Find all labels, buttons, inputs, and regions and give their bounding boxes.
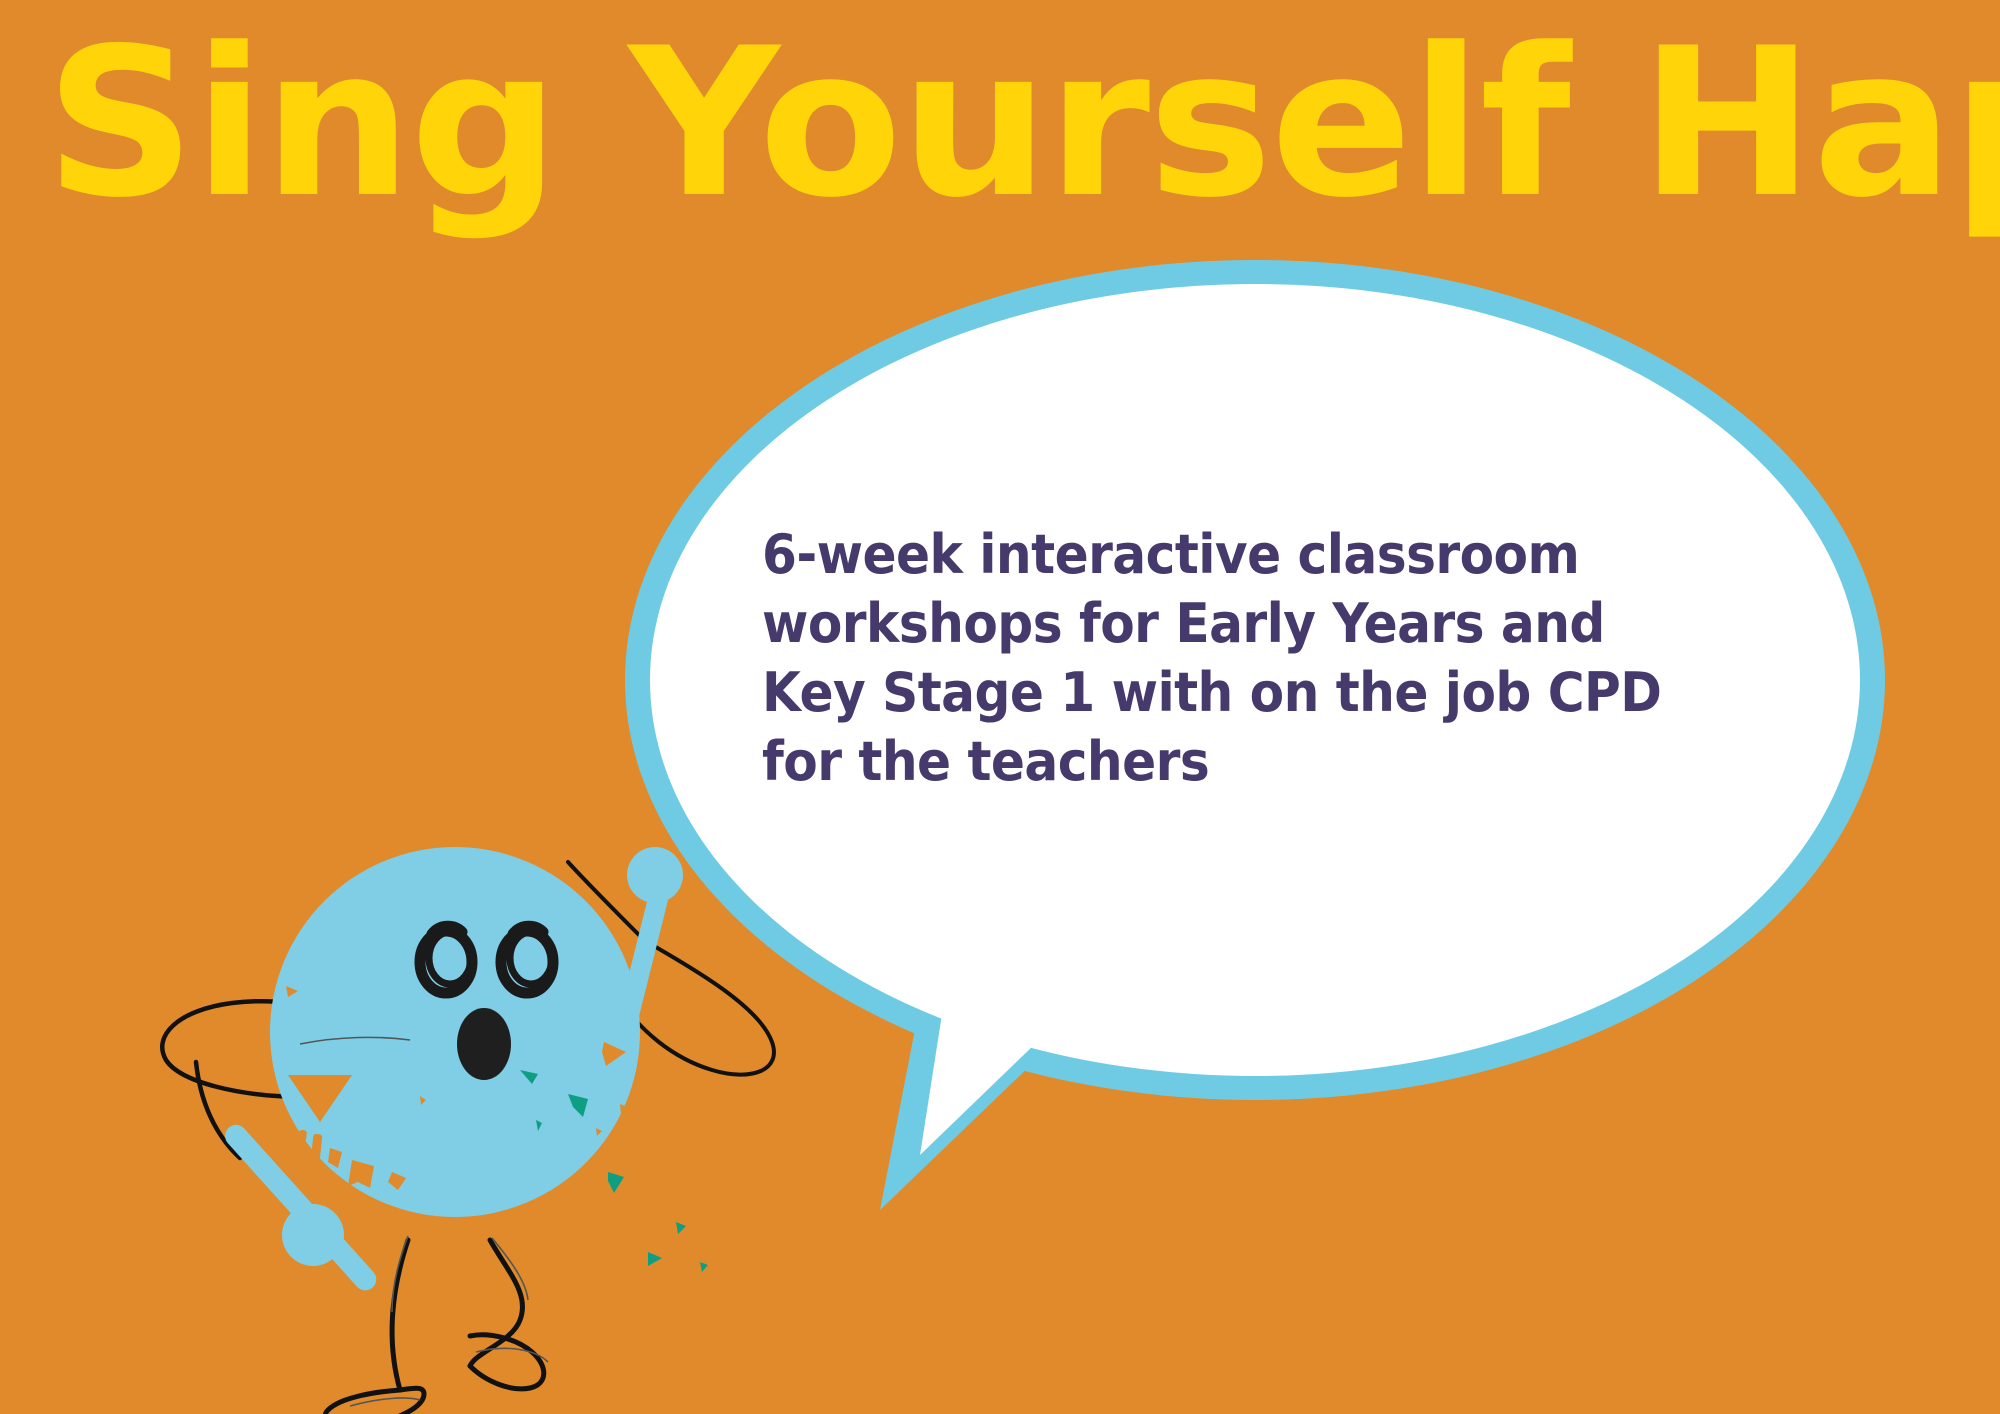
mouth-icon (457, 1008, 511, 1080)
character-body (270, 847, 640, 1217)
character-illustration (0, 0, 2000, 1414)
poster-canvas: Sing Yourself Happy 6-week interactive c… (0, 0, 2000, 1414)
